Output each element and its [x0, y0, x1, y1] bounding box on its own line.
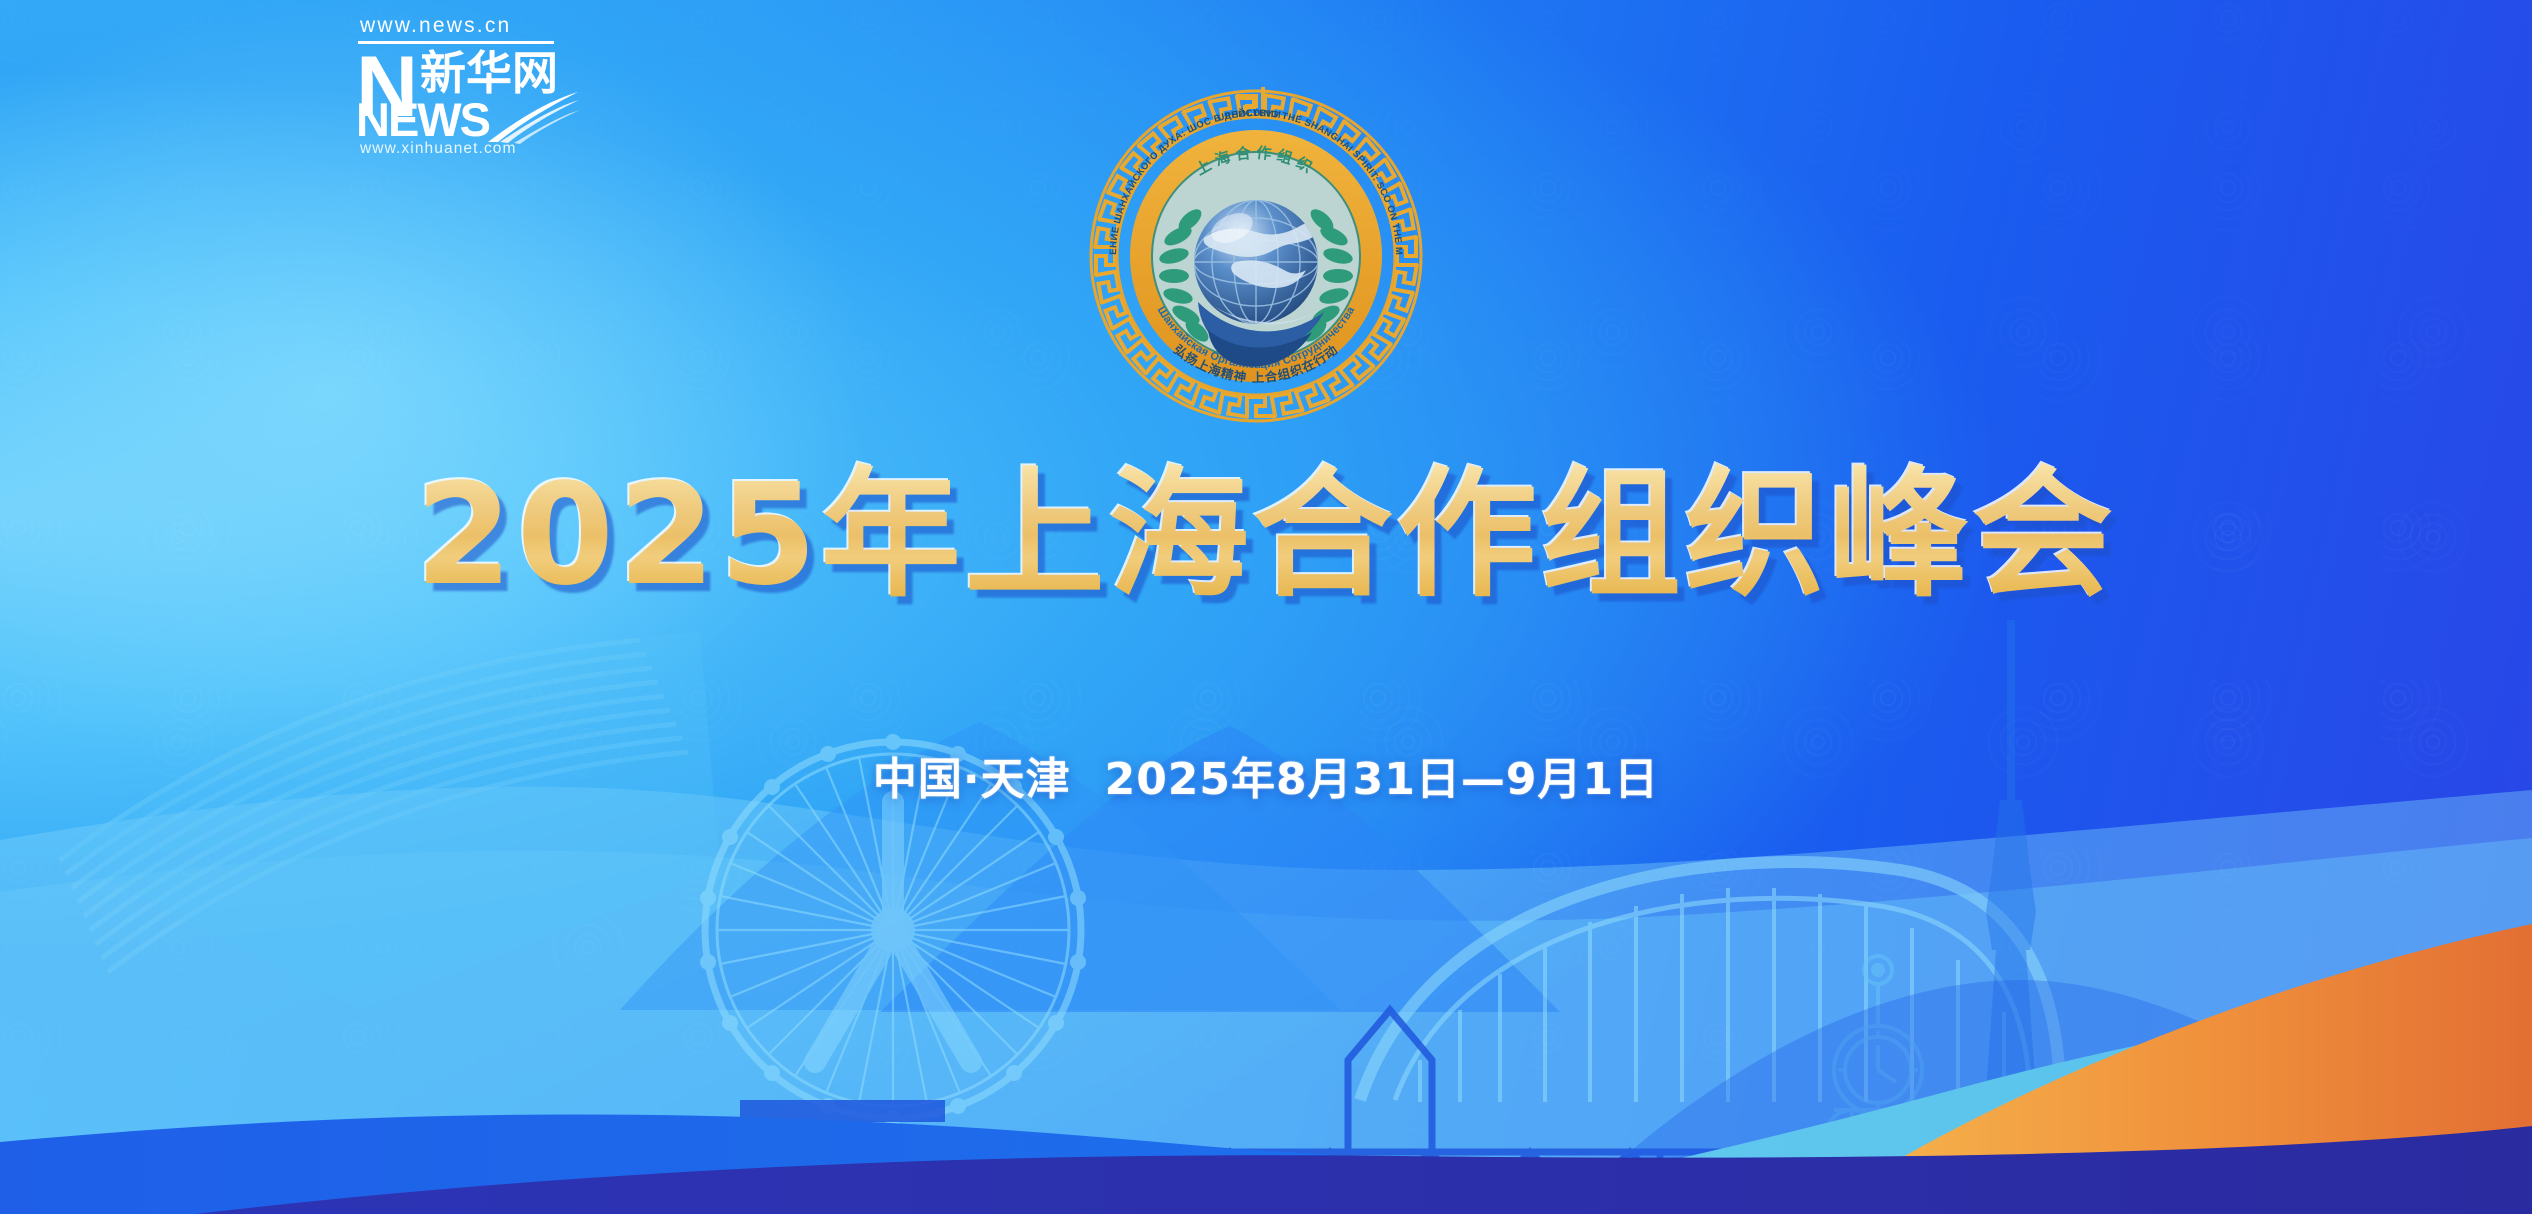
sco-emblem: ПРОДВИЖЕНИЕ ШАНХАЙСКОГО ДУХА: ШОС В ДЕЙС…: [1086, 86, 1426, 426]
banner-canvas: www.news.cn N 新华网 NEWS www.xinhuanet.com: [0, 0, 2532, 1214]
swoosh-icon: [486, 90, 580, 144]
title-fill-layer: 2025年上海合作组织峰会: [0, 448, 2532, 624]
tianjin-skyline-illustration: [0, 540, 2532, 1214]
event-dates: 2025年8月31日—9月1日: [1105, 754, 1660, 805]
xinhua-news-logo[interactable]: www.news.cn N 新华网 NEWS www.xinhuanet.com: [358, 14, 572, 162]
logo-wordmark: N 新华网 NEWS: [358, 46, 572, 140]
page-title: 2025年上海合作组织峰会 2025年上海合作组织峰会 2025年上海合作组织峰…: [0, 448, 2532, 628]
event-location: 中国·天津: [873, 754, 1071, 805]
event-subtitle: 中国·天津2025年8月31日—9月1日: [0, 752, 2532, 808]
logo-news-text: NEWS: [356, 96, 489, 143]
logo-top-url: www.news.cn: [358, 14, 572, 38]
